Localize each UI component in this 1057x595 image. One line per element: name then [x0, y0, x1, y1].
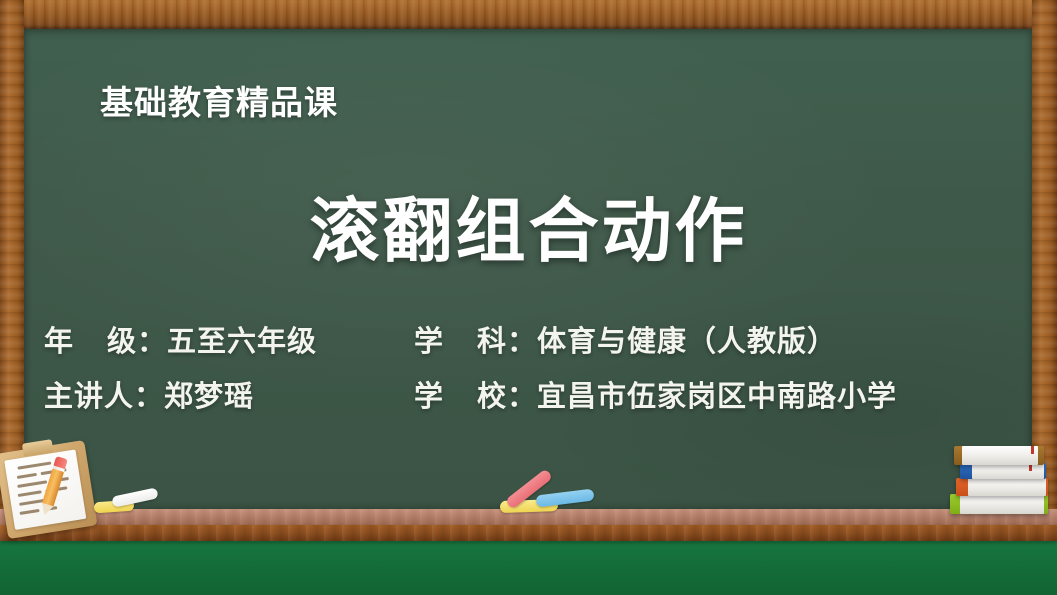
school-label: 学 校：: [414, 373, 537, 415]
book-orange: [956, 478, 1048, 496]
presenter-value: 郑梦瑶: [164, 373, 254, 415]
subject-label: 学 科：: [414, 318, 537, 360]
presenter-label: 主讲人：: [44, 373, 164, 415]
book-brown: [954, 446, 1044, 465]
lesson-meta-block: 年 级： 五至六年级 学 科： 体育与健康（人教版） 主讲人： 郑梦瑶 学 校：…: [44, 318, 1004, 428]
book-bookmark: [1031, 446, 1034, 454]
frame-top-rail: [0, 0, 1057, 29]
paper-line: [18, 490, 42, 497]
meta-school: 学 校： 宜昌市伍家岗区中南路小学: [414, 373, 897, 415]
title-slide: 基础教育精品课 滚翻组合动作 年 级： 五至六年级 学 科： 体育与健康（人教版…: [0, 0, 1057, 595]
paper-line: [17, 461, 51, 469]
book-green: [950, 494, 1048, 514]
paper-line: [17, 480, 47, 488]
grade-value: 五至六年级: [167, 318, 317, 360]
clipboard-icon: [0, 434, 97, 539]
book-stack-icon: [946, 440, 1046, 514]
course-program-label: 基础教育精品课: [100, 76, 338, 124]
grade-label: 年 级：: [44, 318, 167, 360]
meta-grade: 年 级： 五至六年级: [44, 318, 414, 360]
meta-presenter: 主讲人： 郑梦瑶: [44, 373, 414, 415]
chalk-ledge-front: [0, 525, 1057, 541]
book-pages: [968, 478, 1046, 496]
book-pages: [960, 494, 1044, 514]
meta-subject: 学 科： 体育与健康（人教版）: [414, 318, 837, 360]
meta-row: 年 级： 五至六年级 学 科： 体育与健康（人教版）: [44, 318, 1004, 360]
book-blue: [960, 463, 1046, 479]
book-pages: [962, 446, 1038, 465]
school-value: 宜昌市伍家岗区中南路小学: [537, 373, 897, 415]
subject-value: 体育与健康（人教版）: [537, 318, 837, 360]
paper-line: [19, 509, 39, 515]
book-pages: [972, 463, 1044, 479]
meta-row: 主讲人： 郑梦瑶 学 校： 宜昌市伍家岗区中南路小学: [44, 373, 1004, 415]
lesson-title: 滚翻组合动作: [0, 175, 1057, 276]
lower-wall: [0, 536, 1057, 595]
paper-line: [17, 473, 37, 479]
